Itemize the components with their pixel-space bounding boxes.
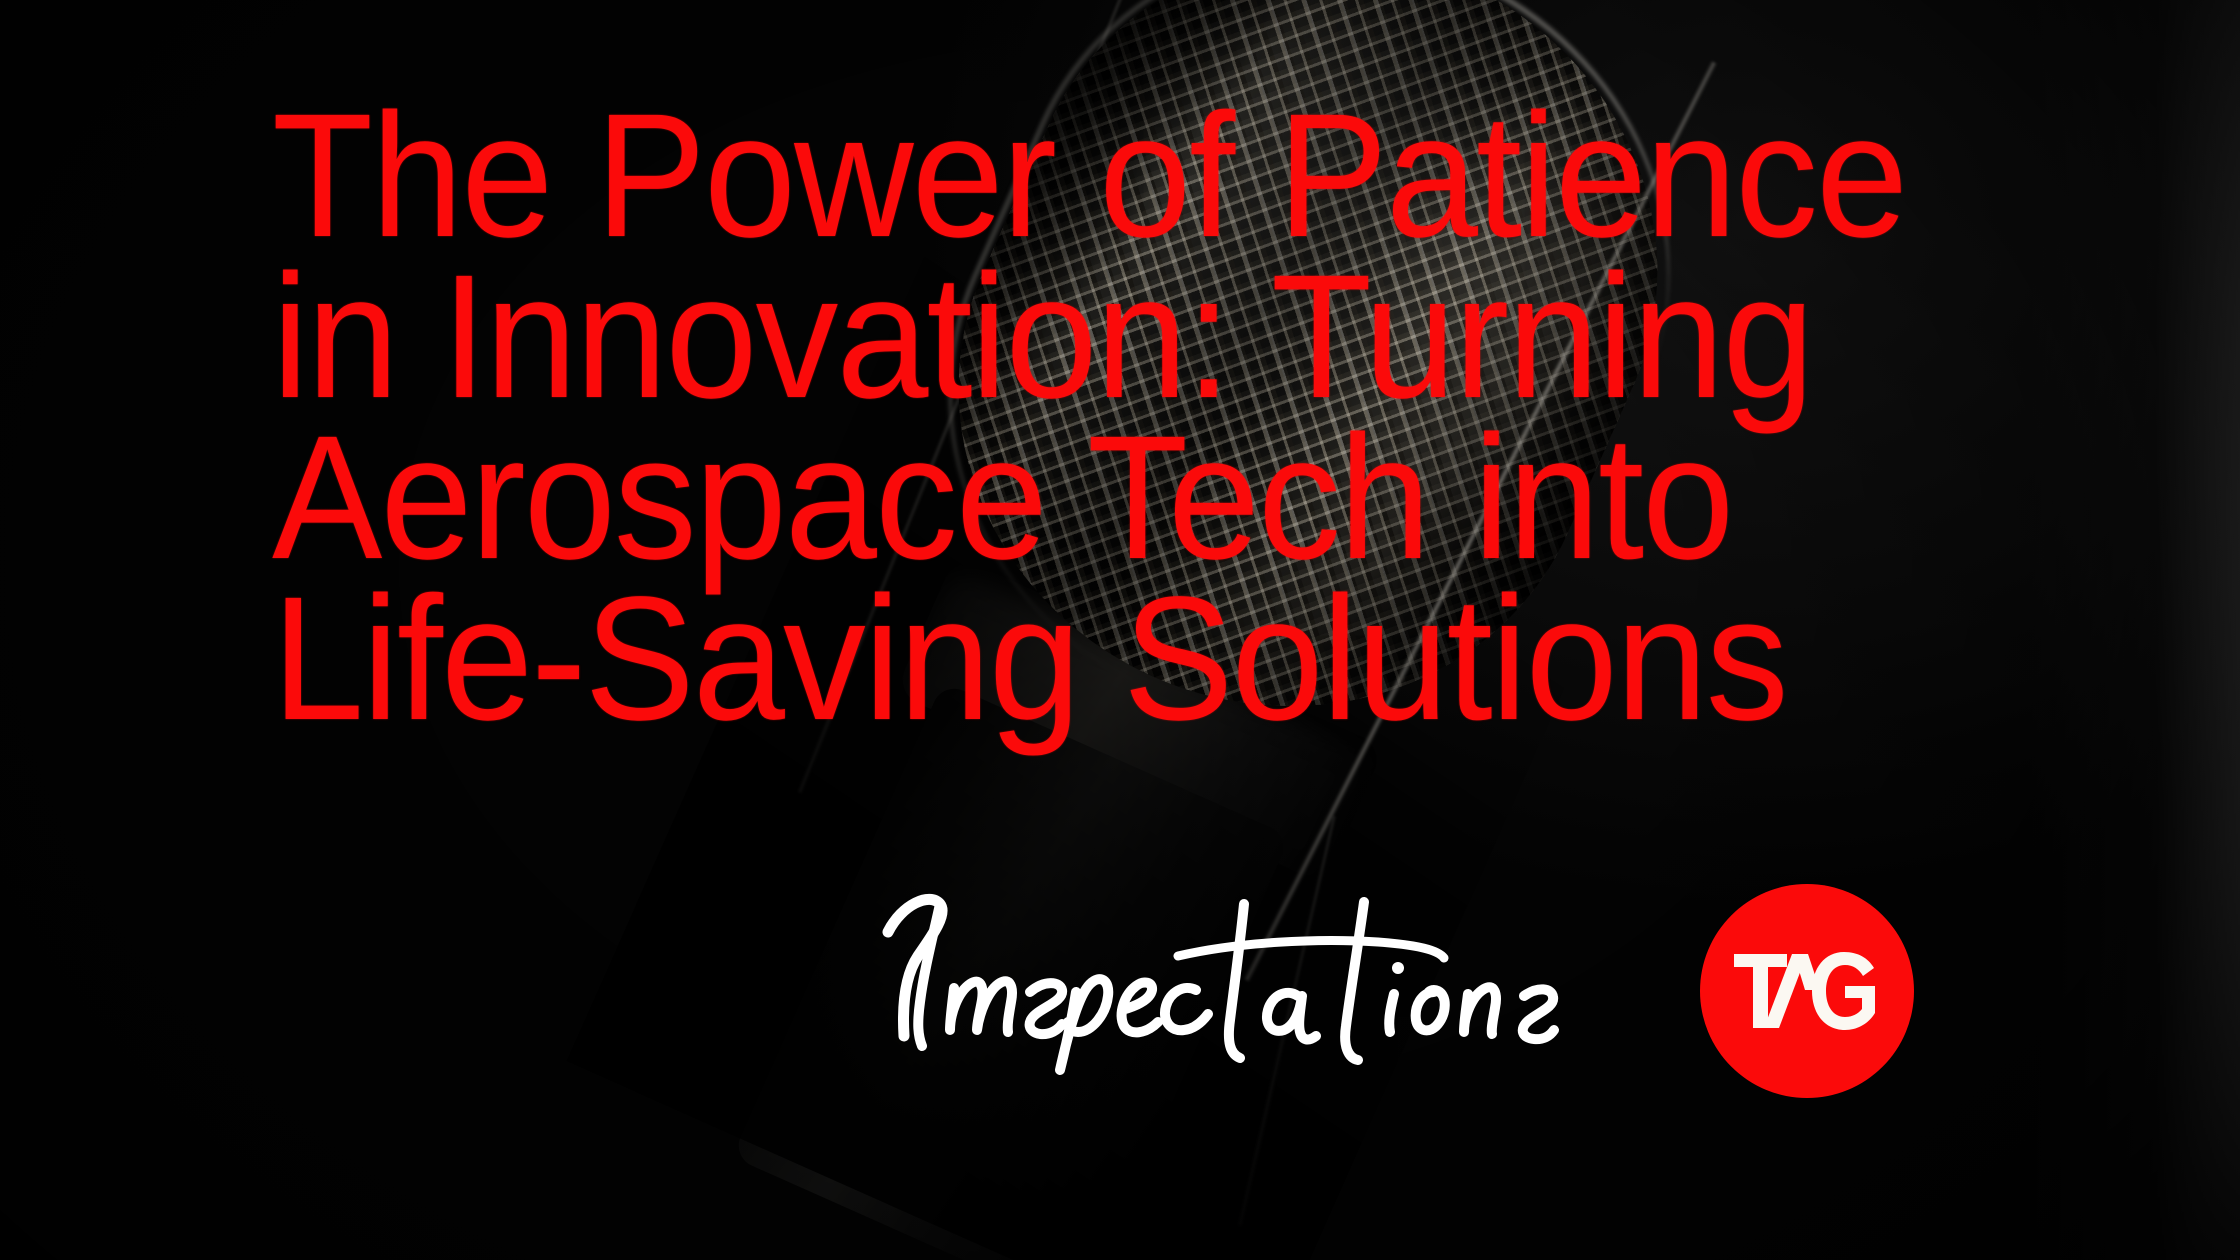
brand-script-wordmark xyxy=(878,884,1678,1074)
podcast-episode-cover: The Power of Patience in Innovation: Tur… xyxy=(0,0,2240,1260)
title-line-4: Life-Saving Solutions xyxy=(272,579,1870,740)
title-line-1: The Power of Patience xyxy=(272,96,1870,257)
tag-logo xyxy=(1700,884,1914,1098)
title-line-3: Aerospace Tech into xyxy=(272,418,1870,579)
title-line-2: in Innovation: Turning xyxy=(272,257,1870,418)
episode-title: The Power of Patience in Innovation: Tur… xyxy=(272,96,1870,740)
